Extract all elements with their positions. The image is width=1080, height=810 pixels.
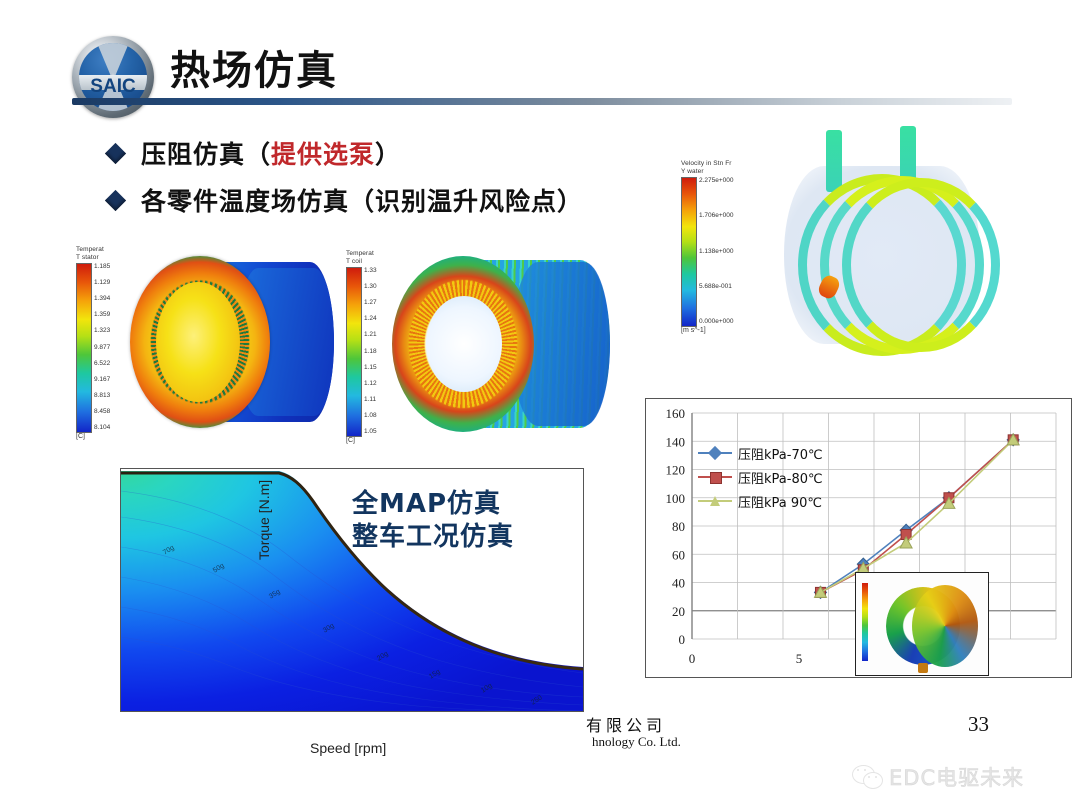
page-title: 热场仿真 [170, 38, 338, 96]
jacket-inlet-pipe [826, 130, 842, 192]
legend-tick: 5.688e-001 [699, 283, 732, 290]
legend-tick: 1.359 [94, 311, 110, 318]
map-y-axis-label: Torque [N.m] [256, 480, 272, 560]
chart-legend-row-2: 压阻kPa-80℃ [698, 465, 823, 489]
page-number: 33 [968, 712, 989, 737]
legend-tick: 2.275e+000 [699, 177, 734, 184]
chart-legend-row-1: 压阻kPa-70℃ [698, 441, 823, 465]
bullet-1-prefix: 压阻仿真（ [141, 140, 271, 169]
inset-jacket-body [912, 585, 978, 667]
bullet-2-prefix: 各零件温度场仿真（识别温升风险点） [141, 187, 583, 216]
legend-tick: 1.05 [364, 428, 377, 435]
legend-tick: 1.18 [364, 348, 377, 355]
chart-y-tick-label: 40 [672, 576, 685, 591]
map-overlay-line-2: 整车工况仿真 [352, 521, 514, 554]
chart-inset-cfd-image [855, 572, 989, 676]
map-overlay-line-1: 全MAP仿真 [352, 488, 514, 521]
chart-legend-label-1: 压阻kPa-70℃ [738, 444, 823, 463]
inset-colorbar [862, 583, 868, 661]
legend-velocity-title: Velocity in Stn Fr [681, 160, 732, 168]
map-x-axis-label: Speed [rpm] [310, 740, 386, 756]
chart-y-tick-label: 100 [666, 491, 686, 506]
title-divider [72, 98, 1012, 105]
legend-velocity: Velocity in Stn Fr Y water 2.275e+0001.7… [681, 160, 732, 334]
legend-tick: 1.15 [364, 364, 377, 371]
legend-swatch-series-1 [698, 452, 732, 454]
chart-legend-label-3: 压阻kPa 90℃ [738, 492, 822, 511]
figure-cooling-jacket-flow [768, 108, 1058, 378]
legend-stator-colorbar [76, 263, 92, 433]
legend-stator-bar-wrap: 1.1851.1291.3941.3591.3239.8776.5229.167… [76, 263, 104, 431]
legend-coil-colorbar [346, 267, 362, 437]
legend-velocity-unit: [m s^-1] [681, 327, 732, 334]
legend-coil: Temperat T coil 1.331.301.271.241.211.18… [346, 250, 374, 444]
chart-legend-row-3: 压阻kPa 90℃ [698, 489, 823, 513]
legend-swatch-series-2 [698, 476, 732, 478]
legend-tick: 0.000e+000 [699, 318, 734, 325]
legend-tick: 1.30 [364, 283, 377, 290]
saic-logo: SAIC [72, 36, 154, 118]
legend-tick: 1.129 [94, 279, 110, 286]
jacket-channel-3 [842, 178, 1000, 352]
bullet-text-1: 压阻仿真（提供选泵） [141, 135, 401, 171]
diamond-bullet-icon [105, 189, 126, 210]
chart-x-tick-label: 5 [796, 651, 803, 666]
footer-company-cn: 有限公司 [586, 712, 666, 736]
bullet-item-1: 压阻仿真（提供选泵） [108, 135, 401, 171]
legend-tick: 1.33 [364, 267, 377, 274]
legend-tick: 8.458 [94, 408, 110, 415]
coil-bore [426, 296, 502, 392]
watermark-text: EDC电驱未来 [889, 762, 1024, 792]
map-overlay-text: 全MAP仿真 整车工况仿真 [352, 488, 514, 554]
inset-port [918, 663, 928, 673]
legend-tick: 1.24 [364, 315, 377, 322]
legend-velocity-colorbar [681, 177, 697, 327]
bullet-1-suffix: ） [375, 140, 401, 169]
chart-series-line-1 [820, 440, 1013, 593]
chart-x-tick-label: 0 [689, 651, 696, 666]
figure-stator-thermal [128, 248, 340, 438]
legend-swatch-series-3 [698, 500, 732, 502]
chart-legend-label-2: 压阻kPa-80℃ [738, 468, 823, 487]
legend-stator-unit: [C] [76, 433, 104, 440]
legend-tick: 1.185 [94, 263, 110, 270]
chart-y-tick-label: 160 [666, 406, 686, 421]
legend-tick: 1.12 [364, 380, 377, 387]
legend-coil-unit: [C] [346, 437, 374, 444]
legend-tick: 8.104 [94, 424, 110, 431]
wechat-icon [852, 765, 882, 789]
legend-tick: 1.138e+000 [699, 248, 734, 255]
bullet-item-2: 各零件温度场仿真（识别温升风险点） [108, 182, 583, 218]
chart-y-tick-label: 60 [672, 547, 685, 562]
legend-tick: 1.11 [364, 396, 376, 403]
legend-tick: 8.813 [94, 392, 110, 399]
legend-tick: 1.706e+000 [699, 212, 734, 219]
watermark: EDC电驱未来 [852, 762, 1024, 792]
legend-tick: 1.21 [364, 331, 377, 338]
bullet-text-2: 各零件温度场仿真（识别温升风险点） [141, 182, 583, 218]
chart-series-line-3 [820, 440, 1013, 593]
diamond-bullet-icon [105, 142, 126, 163]
chart-y-tick-label: 20 [672, 604, 685, 619]
stator-bore [156, 282, 240, 402]
legend-tick: 1.27 [364, 299, 377, 306]
figure-coil-thermal [392, 252, 627, 442]
legend-velocity-bar-wrap: 2.275e+0001.706e+0001.138e+0005.688e-001… [681, 177, 732, 325]
chart-y-tick-label: 120 [666, 463, 686, 478]
bullet-1-highlight: 提供选泵 [271, 140, 375, 169]
legend-coil-title: Temperat T coil [346, 250, 374, 265]
chart-y-tick-label: 80 [672, 519, 685, 534]
legend-stator-title: Temperat T stator [76, 246, 104, 261]
legend-stator: Temperat T stator 1.1851.1291.3941.3591.… [76, 246, 104, 440]
legend-tick: 1.394 [94, 295, 110, 302]
chart-series-line-2 [820, 440, 1013, 593]
slide-header: SAIC 热场仿真 [0, 0, 1080, 118]
legend-tick: 6.522 [94, 360, 110, 367]
legend-tick: 9.877 [94, 344, 110, 351]
chart-y-tick-label: 0 [679, 632, 686, 647]
chart-y-tick-label: 140 [666, 434, 686, 449]
legend-velocity-ticks: 2.275e+0001.706e+0001.138e+0005.688e-001… [699, 177, 759, 325]
legend-coil-bar-wrap: 1.331.301.271.241.211.181.151.121.111.08… [346, 267, 374, 435]
legend-velocity-subtitle: Y water [681, 168, 732, 176]
legend-tick: 1.08 [364, 412, 377, 419]
footer-company-en: hnology Co. Ltd. [592, 734, 681, 750]
legend-tick: 9.167 [94, 376, 110, 383]
logo-wordmark: SAIC [79, 74, 147, 92]
legend-tick: 1.323 [94, 327, 110, 334]
chart-legend: 压阻kPa-70℃ 压阻kPa-80℃ 压阻kPa 90℃ [698, 441, 823, 513]
